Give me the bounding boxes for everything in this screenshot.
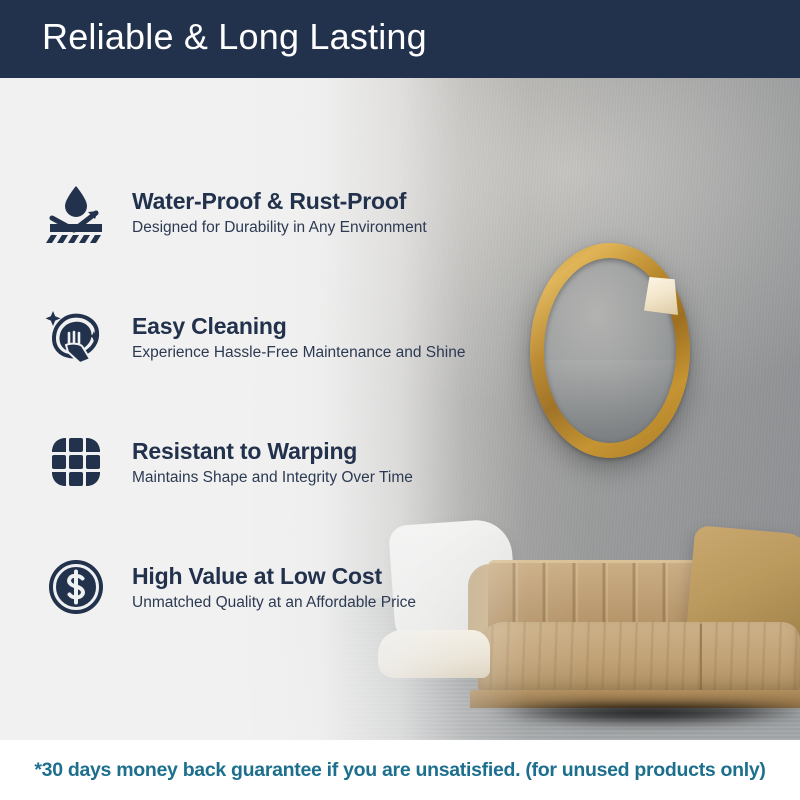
footer-bar: *30 days money back guarantee if you are… <box>0 740 800 800</box>
feature-text: High Value at Low Cost Unmatched Quality… <box>132 561 416 612</box>
feature-text: Resistant to Warping Maintains Shape and… <box>132 436 413 487</box>
feature-title: Easy Cleaning <box>132 313 465 339</box>
page-title: Reliable & Long Lasting <box>42 16 427 58</box>
feature-subtitle: Unmatched Quality at an Affordable Price <box>132 594 416 613</box>
feature-title: Resistant to Warping <box>132 438 413 464</box>
feature-title: Water-Proof & Rust-Proof <box>132 188 427 214</box>
feature-text: Water-Proof & Rust-Proof Designed for Du… <box>132 186 427 237</box>
feature-item-easy-cleaning: Easy Cleaning Experience Hassle-Free Mai… <box>40 301 465 373</box>
feature-title: High Value at Low Cost <box>132 563 416 589</box>
feature-item-resistant-to-warping: Resistant to Warping Maintains Shape and… <box>40 426 413 498</box>
feature-text: Easy Cleaning Experience Hassle-Free Mai… <box>132 311 465 362</box>
feature-subtitle: Maintains Shape and Integrity Over Time <box>132 469 413 488</box>
feature-item-water-proof: Water-Proof & Rust-Proof Designed for Du… <box>40 176 427 248</box>
water-repellent-icon <box>40 176 112 248</box>
dollar-coin-icon <box>40 551 112 623</box>
header-bar: Reliable & Long Lasting <box>0 0 800 78</box>
hand-wiping-sparkle-icon <box>40 301 112 373</box>
promo-feature-card: Reliable & Long Lasting <box>0 0 800 800</box>
guarantee-note: *30 days money back guarantee if you are… <box>34 759 765 782</box>
feature-item-high-value: High Value at Low Cost Unmatched Quality… <box>40 551 416 623</box>
feature-subtitle: Experience Hassle-Free Maintenance and S… <box>132 344 465 363</box>
grid-panel-icon <box>40 426 112 498</box>
feature-subtitle: Designed for Durability in Any Environme… <box>132 219 427 238</box>
